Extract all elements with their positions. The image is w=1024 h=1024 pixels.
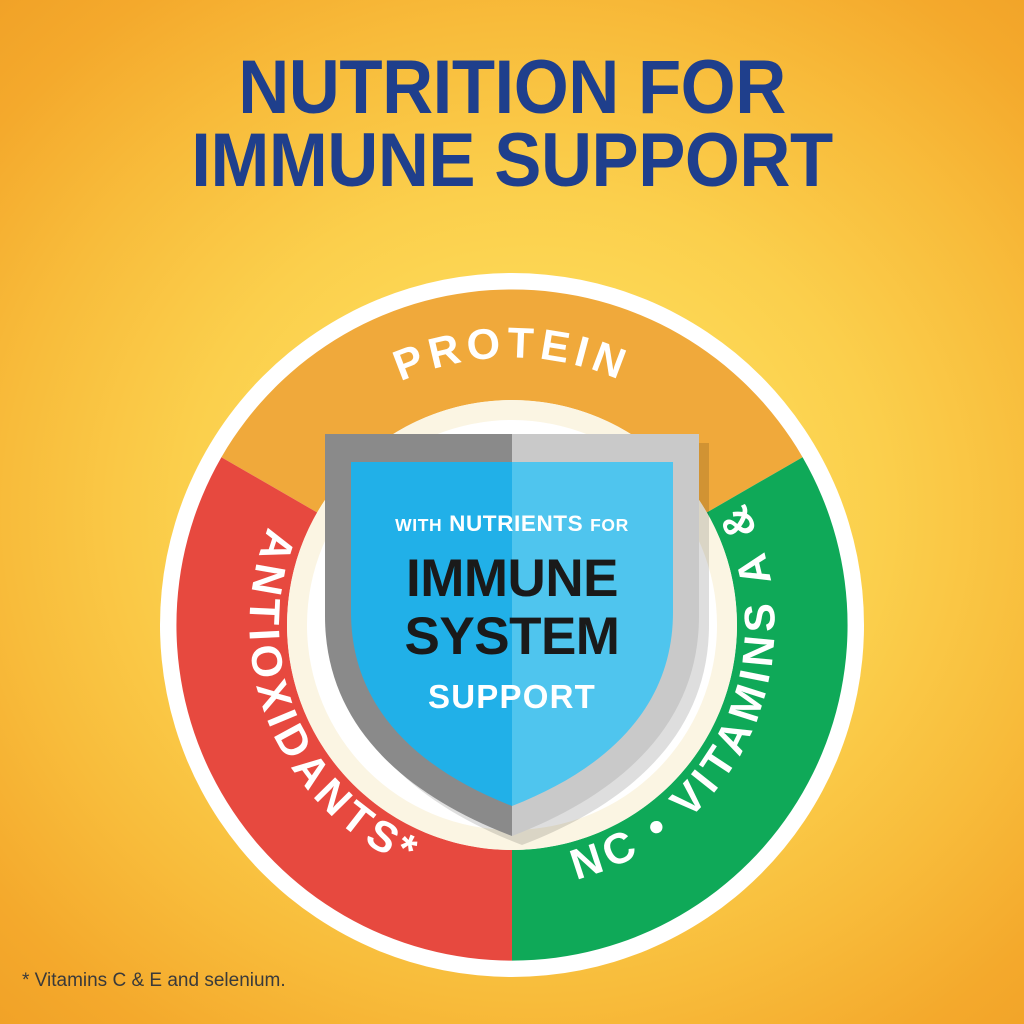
shield-title-line-1: IMMUNE <box>406 549 618 608</box>
shield-pretitle-with: WITH <box>395 515 442 535</box>
shield-subtitle: SUPPORT <box>428 678 596 715</box>
shield-badge: WITH NUTRIENTS FOR IMMUNE SYSTEM SUPPORT <box>297 420 727 850</box>
footnote: * Vitamins C & E and selenium. <box>22 970 286 992</box>
shield-pretitle-nutrients: NUTRIENTS <box>449 511 583 536</box>
shield-title-line-2: SYSTEM <box>405 607 620 666</box>
page-title-line-2: IMMUNE SUPPORT <box>36 125 988 198</box>
page-title: NUTRITION FOR IMMUNE SUPPORT <box>36 52 988 198</box>
shield-pretitle: WITH NUTRIENTS FOR <box>395 511 629 536</box>
shield-pretitle-for: FOR <box>590 515 629 535</box>
